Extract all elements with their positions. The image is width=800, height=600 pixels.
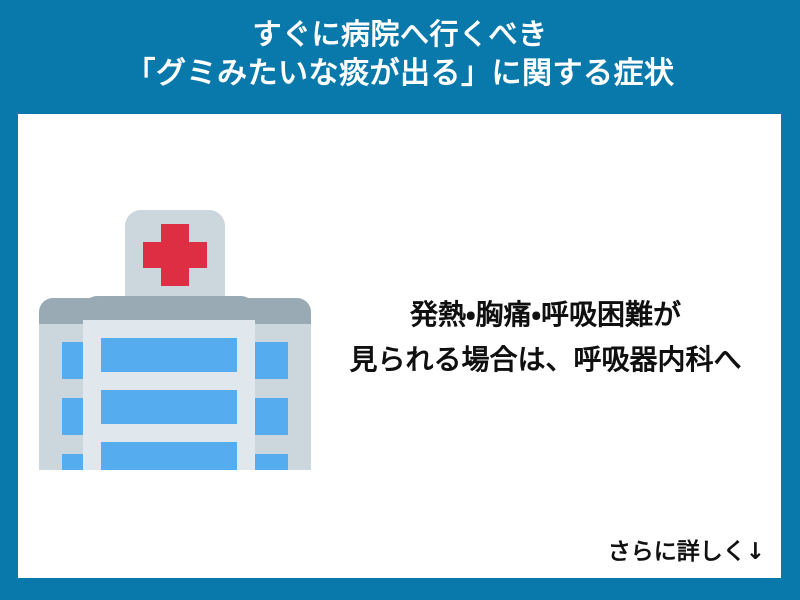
main-message: 発熱・胸痛・呼吸困難が 見られる場合は、呼吸器内科へ <box>318 292 773 382</box>
slide-root: すぐに病院へ行くべき 「グミみたいな痰が出る」に関する症状 <box>0 0 800 600</box>
main-message-line-1: 発熱・胸痛・呼吸困難が <box>318 292 773 337</box>
page-title-line-1: すぐに病院へ行くべき <box>0 14 800 54</box>
page-title-line-2: 「グミみたいな痰が出る」に関する症状 <box>0 54 800 94</box>
content-card: 発熱・胸痛・呼吸困難が 見られる場合は、呼吸器内科へ さらに詳しく↓ <box>18 114 781 578</box>
more-details-link[interactable]: さらに詳しく↓ <box>608 537 765 567</box>
page-title: すぐに病院へ行くべき 「グミみたいな痰が出る」に関する症状 <box>0 14 800 94</box>
hospital-building-icon <box>31 202 319 470</box>
main-message-line-2: 見られる場合は、呼吸器内科へ <box>318 337 773 382</box>
